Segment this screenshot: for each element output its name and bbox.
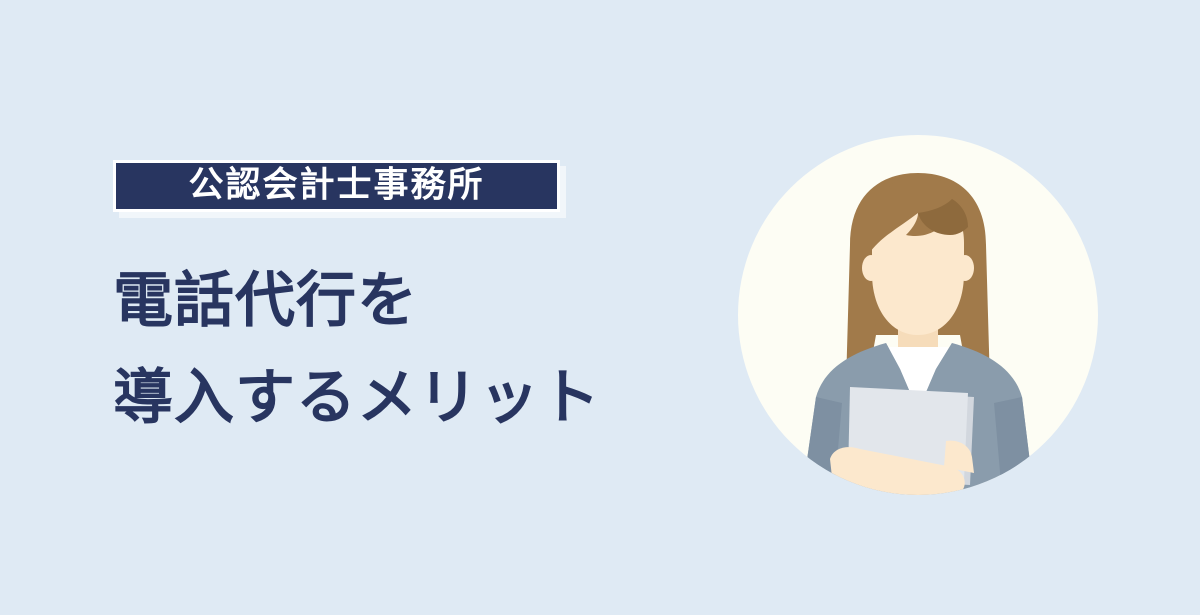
businesswoman-illustration-icon bbox=[738, 135, 1098, 495]
ear-right-shape bbox=[956, 255, 974, 281]
headline-line-2: 導入するメリット bbox=[113, 350, 733, 447]
illustration bbox=[738, 135, 1098, 495]
portrait-circle-background bbox=[738, 135, 1098, 495]
ear-left-shape bbox=[862, 255, 880, 281]
badge-label: 公認会計士事務所 bbox=[116, 169, 557, 204]
page-title: 電話代行を 導入するメリット bbox=[113, 253, 733, 447]
headline-line-1: 電話代行を bbox=[113, 253, 733, 350]
banner-root: 公認会計士事務所 電話代行を 導入するメリット bbox=[0, 0, 1200, 615]
badge: 公認会計士事務所 bbox=[113, 160, 560, 212]
text-block: 公認会計士事務所 電話代行を 導入するメリット bbox=[113, 160, 733, 488]
